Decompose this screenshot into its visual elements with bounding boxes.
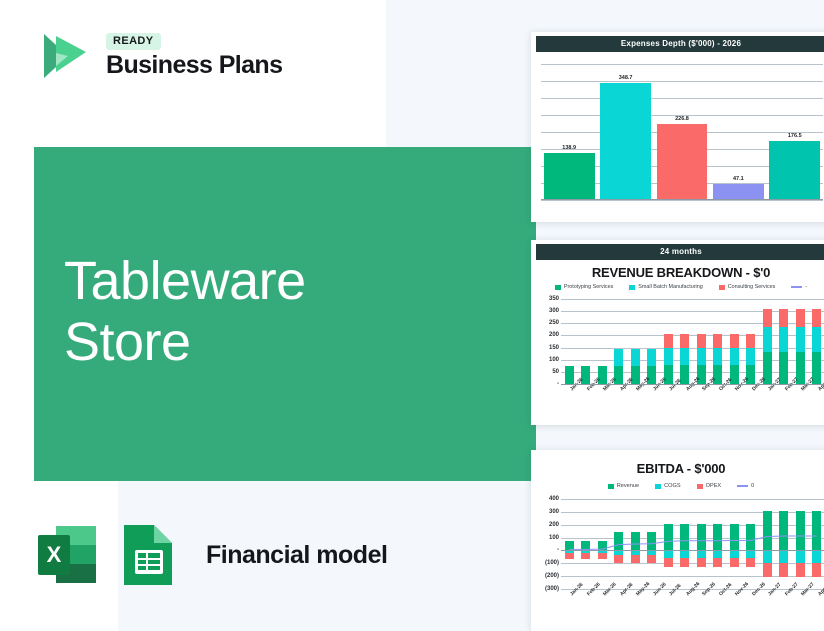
chart-card-ebitda: EBITDA - $'000 RevenueCOGSOPEX0 40030020…	[531, 450, 824, 631]
legend-swatch-icon	[737, 485, 748, 487]
bar-segment[interactable]	[565, 366, 574, 384]
chart-zero-axis	[561, 384, 824, 385]
bar-segment[interactable]	[697, 334, 706, 348]
y-axis-tick-label: 200	[549, 522, 559, 528]
bar[interactable]	[713, 184, 764, 200]
chart-header-revenue: 24 months	[536, 244, 824, 260]
y-axis-tick-label: 300	[549, 308, 559, 314]
bar-segment[interactable]	[697, 348, 706, 365]
legend-item: Consulting Services	[719, 284, 776, 290]
brand-header: READY Business Plans	[34, 26, 282, 84]
y-axis-tick-label: 100	[549, 357, 559, 363]
bar-column[interactable]: 138.9	[544, 64, 595, 200]
y-axis-tick-label: 150	[549, 345, 559, 351]
bar-segment[interactable]	[680, 334, 689, 348]
page-title: Tableware Store	[64, 251, 306, 373]
chart-gridline	[541, 200, 823, 201]
chart-header-expenses: Expenses Depth ($'000) - 2026	[536, 36, 824, 52]
bar-segment[interactable]	[812, 327, 821, 353]
bar-segment[interactable]	[796, 327, 805, 353]
y-axis-tick-label: (100)	[545, 560, 559, 566]
chart-card-expenses: Expenses Depth ($'000) - 2026 138.9348.7…	[531, 32, 824, 222]
y-axis-tick-label: -	[557, 547, 559, 553]
microsoft-excel-icon: X	[34, 522, 100, 588]
bar-segment[interactable]	[664, 348, 673, 365]
bar-segment[interactable]	[779, 327, 788, 353]
play-triangle-logo-icon	[34, 26, 92, 84]
bar-segment[interactable]	[614, 349, 623, 366]
bar-column[interactable]	[743, 295, 760, 384]
legend-item: OPEX	[697, 483, 722, 489]
bar[interactable]	[769, 141, 820, 200]
brand-name: Business Plans	[106, 53, 282, 78]
bar-column[interactable]: 47.1	[713, 64, 764, 200]
bar-column[interactable]	[792, 295, 809, 384]
bar-value-label: 138.9	[562, 145, 576, 151]
chart-title-revenue: REVENUE BREAKDOWN - $'0	[531, 260, 824, 282]
bar-segment[interactable]	[730, 334, 739, 348]
chart-card-revenue: 24 months REVENUE BREAKDOWN - $'0 Protot…	[531, 240, 824, 425]
legend-label: Consulting Services	[728, 284, 776, 290]
legend-item: -	[791, 284, 807, 290]
bar-segment[interactable]	[746, 334, 755, 348]
bar[interactable]	[657, 124, 708, 200]
bar[interactable]	[544, 153, 595, 200]
svg-text:X: X	[47, 542, 62, 567]
y-axis-tick-label: (300)	[545, 586, 559, 592]
legend-label: COGS	[664, 483, 680, 489]
bar-segment[interactable]	[812, 309, 821, 326]
bar-column[interactable]	[578, 295, 595, 384]
chart-x-axis: Jan-26Feb-26Mar-26Apr-26May-26Jun-26Jul-…	[561, 591, 824, 613]
chart-line-series	[561, 495, 824, 589]
legend-label: Revenue	[617, 483, 639, 489]
chart-legend-revenue: Prototyping ServicesSmall Batch Manufact…	[531, 282, 824, 293]
y-axis-tick-label: (200)	[545, 573, 559, 579]
bar-segment[interactable]	[647, 349, 656, 366]
y-axis-tick-label: 50	[552, 369, 559, 375]
chart-title-ebitda: EBITDA - $'000	[531, 450, 824, 478]
ready-badge: READY	[106, 33, 161, 50]
chart-plot-ebitda: 400300200100-(100)(200)(300)Jan-26Feb-26…	[535, 495, 824, 615]
y-axis-tick-label: 100	[549, 535, 559, 541]
bar-column[interactable]: 226.8	[657, 64, 708, 200]
bar-column[interactable]	[693, 295, 710, 384]
bar-segment[interactable]	[664, 334, 673, 348]
hero-panel: Tableware Store	[34, 147, 536, 481]
bar-column[interactable]	[627, 295, 644, 384]
legend-swatch-icon	[655, 484, 661, 489]
legend-item: Prototyping Services	[555, 284, 613, 290]
bar-value-label: 176.5	[788, 133, 802, 139]
bar[interactable]	[600, 83, 651, 200]
legend-swatch-icon	[697, 484, 703, 489]
legend-label: OPEX	[706, 483, 722, 489]
bar-column[interactable]	[594, 295, 611, 384]
bar-value-label: 348.7	[619, 75, 633, 81]
chart-plot-revenue: 35030025020015010050-Jan-26Feb-26Mar-26A…	[535, 295, 824, 410]
y-axis-tick-label: 350	[549, 296, 559, 302]
bar-segment[interactable]	[779, 309, 788, 326]
bar-segment[interactable]	[796, 309, 805, 326]
bar-column[interactable]: 176.5	[769, 64, 820, 200]
bar-value-label: 47.1	[733, 176, 744, 182]
chart-bars: 138.9348.7226.847.1176.5	[541, 64, 823, 200]
legend-label: -	[805, 284, 807, 290]
chart-bars	[561, 295, 824, 384]
bar-value-label: 226.8	[675, 116, 689, 122]
bar-segment[interactable]	[713, 334, 722, 348]
bar-column[interactable]	[561, 295, 578, 384]
footer-row: X Financial model	[34, 522, 387, 588]
bar-segment[interactable]	[746, 348, 755, 365]
bar-segment[interactable]	[763, 309, 772, 326]
chart-y-axis: 400300200100-(100)(200)(300)	[535, 495, 561, 615]
bar-column[interactable]	[759, 295, 776, 384]
bar-column[interactable]	[660, 295, 677, 384]
chart-y-axis: 35030025020015010050-	[535, 295, 561, 410]
bar-column[interactable]	[726, 295, 743, 384]
legend-item: COGS	[655, 483, 680, 489]
y-axis-tick-label: 300	[549, 509, 559, 515]
legend-label: Small Batch Manufacturing	[638, 284, 702, 290]
footer-label: Financial model	[206, 541, 387, 570]
chart-legend-ebitda: RevenueCOGSOPEX0	[531, 478, 824, 492]
legend-swatch-icon	[555, 285, 561, 290]
y-axis-tick-label: 400	[549, 496, 559, 502]
legend-label: Prototyping Services	[564, 284, 613, 290]
legend-swatch-icon	[608, 484, 614, 489]
legend-item: Small Batch Manufacturing	[629, 284, 702, 290]
chart-x-axis: Jan-26Feb-26Mar-26Apr-26May-26Jun-26Jul-…	[561, 386, 824, 408]
legend-swatch-icon	[719, 285, 725, 290]
bar-segment[interactable]	[680, 348, 689, 365]
google-sheets-icon	[118, 522, 180, 588]
bar-segment[interactable]	[631, 349, 640, 366]
y-axis-tick-label: 250	[549, 320, 559, 326]
bar-segment[interactable]	[763, 327, 772, 353]
chart-axis	[541, 199, 823, 200]
brand-text: READY Business Plans	[106, 33, 282, 78]
bar-column[interactable]	[677, 295, 694, 384]
legend-item: 0	[737, 483, 754, 489]
legend-label: 0	[751, 483, 754, 489]
bar-segment[interactable]	[713, 348, 722, 365]
bar-column[interactable]	[710, 295, 727, 384]
legend-swatch-icon	[791, 286, 802, 288]
y-axis-tick-label: -	[557, 381, 559, 387]
bar-segment[interactable]	[730, 348, 739, 365]
bar-column[interactable]	[809, 295, 824, 384]
legend-item: Revenue	[608, 483, 639, 489]
bar-column[interactable]: 348.7	[600, 64, 651, 200]
y-axis-tick-label: 200	[549, 332, 559, 338]
chart-zero-axis	[561, 550, 824, 551]
bar-column[interactable]	[611, 295, 628, 384]
legend-swatch-icon	[629, 285, 635, 290]
chart-plot-expenses: 138.9348.7226.847.1176.5	[535, 58, 824, 206]
bar-column[interactable]	[776, 295, 793, 384]
bar-column[interactable]	[644, 295, 661, 384]
